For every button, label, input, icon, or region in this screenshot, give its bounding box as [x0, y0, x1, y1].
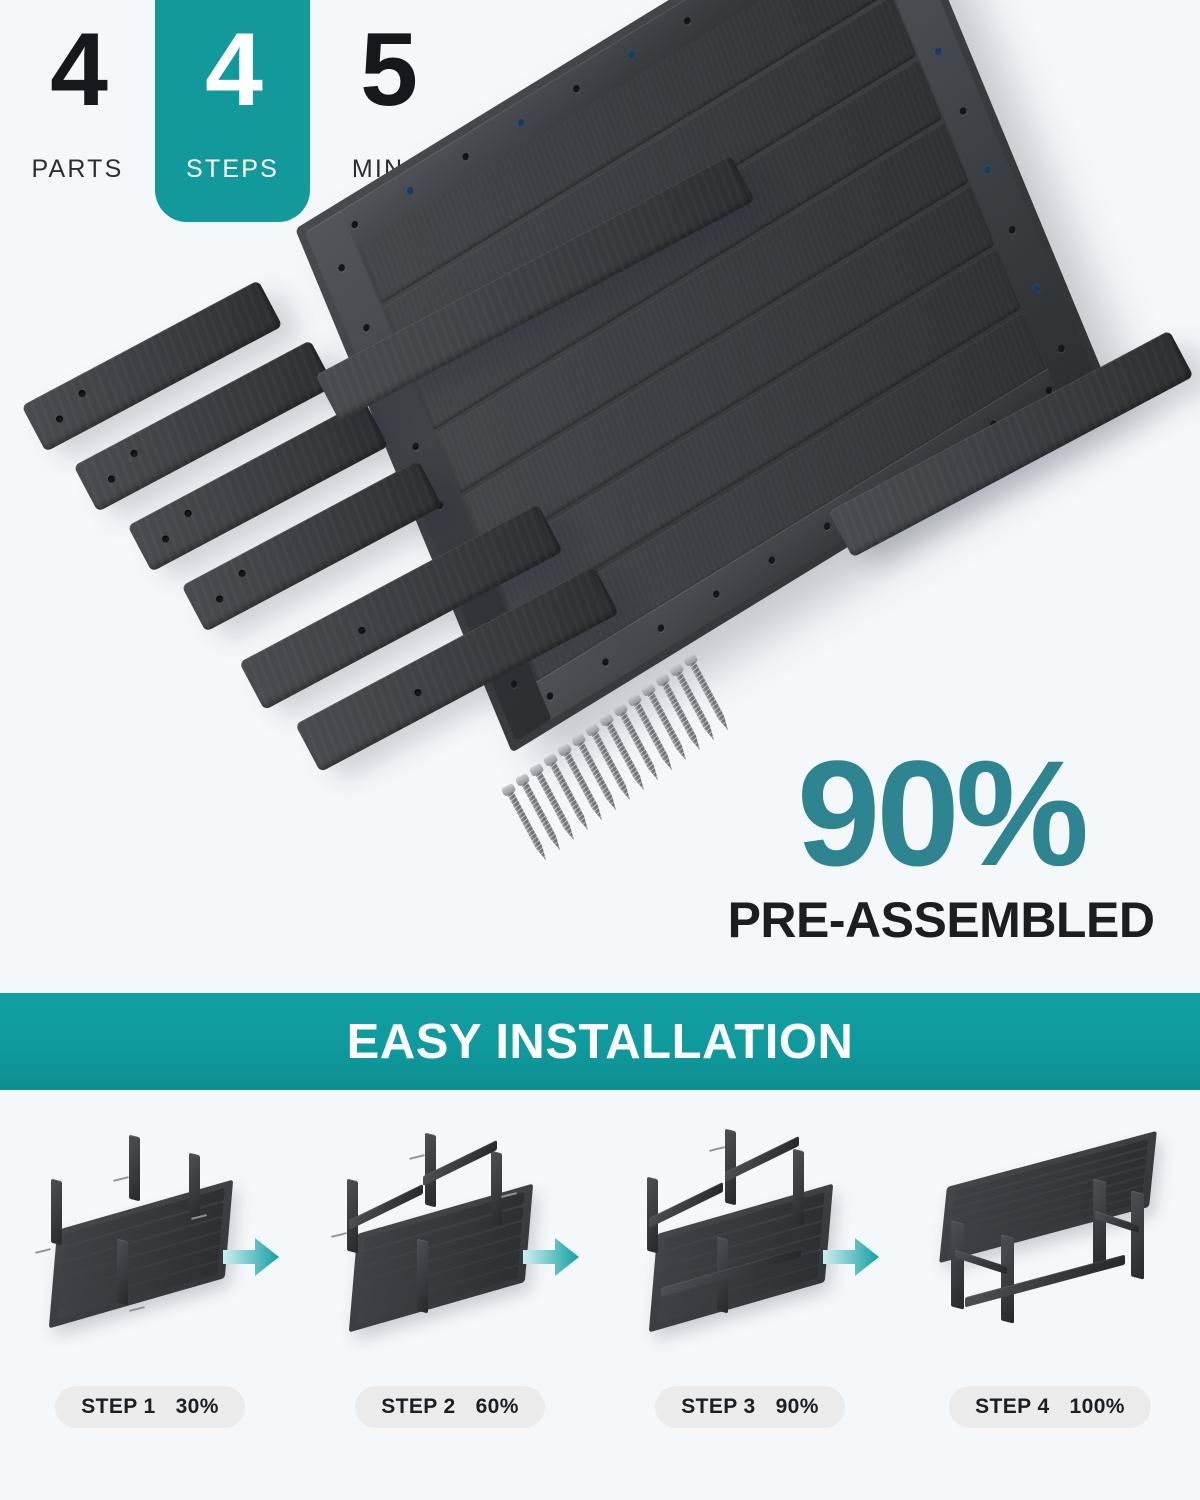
finished-table-top — [939, 1131, 1157, 1263]
step-1-figure — [25, 1118, 275, 1348]
step-1-leg-d — [189, 1153, 200, 1220]
product-infographic: 4 PARTS 4 STEPS 5 MINS — [0, 0, 1200, 1500]
step-3-name: STEP 3 — [681, 1395, 755, 1419]
step-3: STEP 3 90% — [600, 1118, 900, 1418]
step-2: STEP 2 60% — [300, 1118, 600, 1418]
step-4-percent: 100% — [1070, 1395, 1125, 1419]
step-3-percent: 90% — [776, 1395, 819, 1419]
step-2-name: STEP 2 — [381, 1395, 455, 1419]
finished-table-leg-fl — [951, 1220, 964, 1309]
step-1: STEP 1 30% — [0, 1118, 300, 1418]
step-4-figure — [925, 1118, 1175, 1348]
step-4: STEP 4 100% — [900, 1118, 1200, 1418]
step-3-figure — [625, 1118, 875, 1348]
step-2-arrow-icon — [523, 1236, 579, 1278]
finished-table-leg-fr — [1001, 1234, 1014, 1323]
easy-installation-banner: EASY INSTALLATION — [0, 993, 1200, 1090]
screws-group — [498, 700, 718, 875]
step-4-name: STEP 4 — [975, 1395, 1049, 1419]
preassembled-callout: 90% PRE-ASSEMBLED — [726, 742, 1156, 949]
step-1-badge: STEP 1 30% — [55, 1386, 245, 1428]
step-4-badge: STEP 4 100% — [949, 1386, 1151, 1428]
step-3-arrow-icon — [823, 1236, 879, 1278]
step-1-leg-b — [129, 1135, 140, 1202]
step-1-arrow-icon — [223, 1236, 279, 1278]
preassembled-percent: 90% — [726, 742, 1156, 885]
installation-steps-row: STEP 1 30% — [0, 1118, 1200, 1418]
step-2-badge: STEP 2 60% — [355, 1386, 545, 1428]
banner-title: EASY INSTALLATION — [347, 1014, 854, 1070]
finished-table-leg-br — [1131, 1190, 1144, 1279]
step-2-figure — [325, 1118, 575, 1348]
finished-table-leg-bl — [1093, 1178, 1106, 1267]
hero-product-photo: 90% PRE-ASSEMBLED — [0, 0, 1200, 985]
preassembled-panel — [352, 28, 1172, 728]
step-1-percent: 30% — [176, 1395, 219, 1419]
step-1-name: STEP 1 — [81, 1395, 155, 1419]
step-1-leg-a — [51, 1179, 62, 1246]
preassembled-caption: PRE-ASSEMBLED — [726, 891, 1156, 949]
step-2-percent: 60% — [476, 1395, 519, 1419]
step-3-badge: STEP 3 90% — [655, 1386, 845, 1428]
step-1-leg-c — [117, 1239, 128, 1306]
